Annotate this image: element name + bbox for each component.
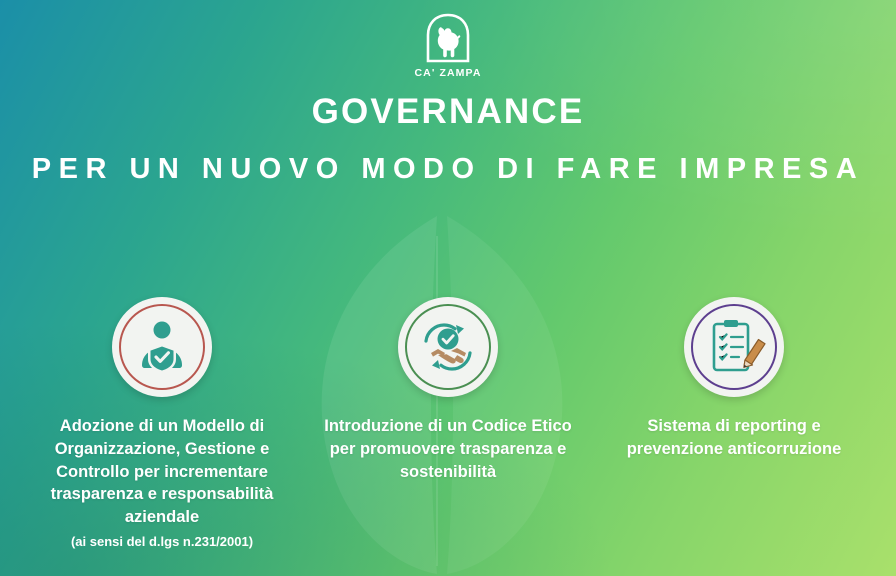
pillar-item: Sistema di reporting e prevenzione antic… — [591, 297, 877, 551]
governance-poster: CA' ZAMPA GOVERNANCE PER UN NUOVO MODO D… — [0, 0, 896, 576]
pillars-row: Adozione di un Modello di Organizzazione… — [0, 297, 896, 551]
pillar-caption: Introduzione di un Codice Etico per prom… — [313, 415, 583, 483]
pillar-icon-badge — [684, 297, 784, 397]
pillar-caption: Sistema di reporting e prevenzione antic… — [599, 415, 869, 461]
dog-in-arch-logo-icon — [420, 13, 476, 65]
brand-logo-text: CA' ZAMPA — [414, 67, 481, 79]
page-subtitle: PER UN NUOVO MODO DI FARE IMPRESA — [0, 153, 896, 186]
pillar-icon-badge — [398, 297, 498, 397]
pillar-item: Adozione di un Modello di Organizzazione… — [19, 297, 305, 551]
checklist-clipboard-pencil-icon — [684, 297, 784, 397]
brand-logo: CA' ZAMPA — [0, 13, 896, 79]
pillar-caption-note: (ai sensi del d.lgs n.231/2001) — [71, 534, 253, 551]
pillar-icon-badge — [112, 297, 212, 397]
pillar-caption: Adozione di un Modello di Organizzazione… — [27, 415, 297, 529]
pillar-item: Introduzione di un Codice Etico per prom… — [305, 297, 591, 551]
handshake-check-cycle-icon — [398, 297, 498, 397]
page-title: GOVERNANCE — [0, 92, 896, 132]
person-with-shield-check-icon — [112, 297, 212, 397]
